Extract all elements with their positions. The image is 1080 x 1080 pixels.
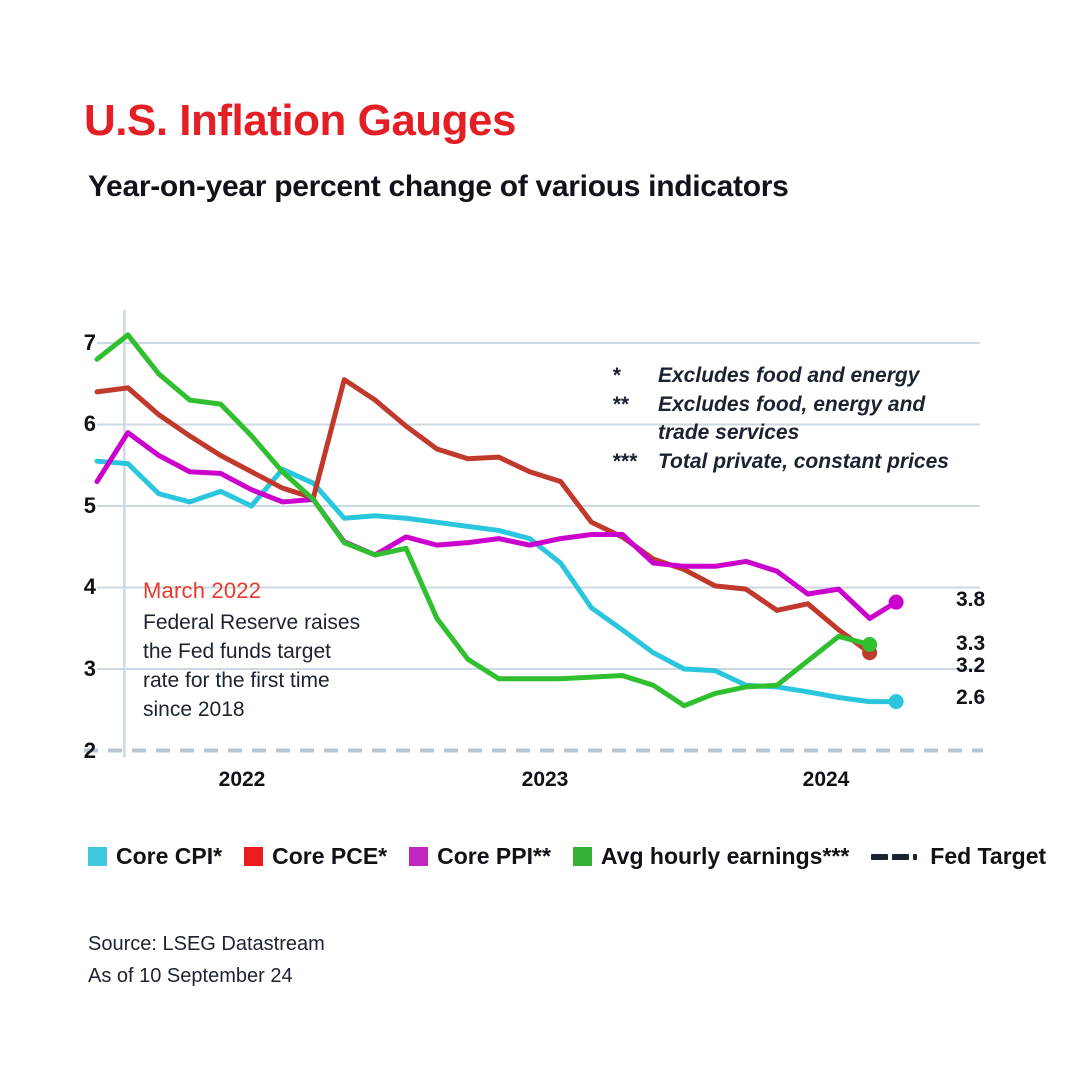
- footnote-2-marker: **: [612, 391, 658, 420]
- end-label-core-ppi: 3.8: [956, 588, 985, 612]
- footnotes: * Excludes food and energy ** Excludes f…: [612, 362, 949, 476]
- y-tick-6: 6: [60, 411, 96, 437]
- source-line-2: As of 10 September 24: [88, 960, 325, 992]
- end-label-core-pce: 3.2: [956, 654, 985, 678]
- footnote-3-marker: ***: [612, 448, 658, 477]
- footnote-1-marker: *: [612, 362, 658, 391]
- y-tick-7: 7: [60, 330, 96, 356]
- source-block: Source: LSEG Datastream As of 10 Septemb…: [88, 928, 325, 992]
- y-tick-5: 5: [60, 493, 96, 519]
- footnote-2-continuation-row: trade services: [612, 419, 949, 448]
- legend-label-core-pce: Core PCE*: [272, 843, 387, 870]
- x-tick-2024: 2024: [766, 768, 886, 792]
- legend-swatch-avg-hourly-earnings: [573, 847, 592, 866]
- legend-item-avg-hourly-earnings[interactable]: Avg hourly earnings***: [573, 843, 849, 870]
- x-tick-2022: 2022: [182, 768, 302, 792]
- source-line-1: Source: LSEG Datastream: [88, 928, 325, 960]
- x-tick-2023: 2023: [485, 768, 605, 792]
- annotation-body-line-1: Federal Reserve raises: [143, 608, 391, 637]
- footnote-1: * Excludes food and energy: [612, 362, 949, 391]
- legend-item-fed-target[interactable]: Fed Target: [871, 843, 1046, 870]
- annotation-body-line-2: the Fed funds target: [143, 637, 391, 666]
- footnote-2: ** Excludes food, energy and: [612, 391, 949, 420]
- legend-swatch-core-pce: [244, 847, 263, 866]
- legend-swatch-core-cpi: [88, 847, 107, 866]
- legend-item-core-ppi[interactable]: Core PPI**: [409, 843, 551, 870]
- footnote-2-text: Excludes food, energy and: [658, 391, 925, 420]
- legend-label-core-ppi: Core PPI**: [437, 843, 551, 870]
- chart-plot-area: [0, 0, 1080, 1080]
- legend-item-core-pce[interactable]: Core PCE*: [244, 843, 387, 870]
- dashed-line-icon: [871, 854, 921, 860]
- end-label-avg-hourly-earnings: 3.3: [956, 632, 985, 656]
- footnote-2-continuation: trade services: [658, 419, 949, 448]
- chart-legend: Core CPI* Core PCE* Core PPI** Avg hourl…: [88, 843, 1018, 870]
- end-label-core-cpi: 2.6: [956, 686, 985, 710]
- annotation-body-line-3: rate for the first time: [143, 666, 391, 695]
- annotation-heading: March 2022: [143, 578, 391, 604]
- footnote-3: *** Total private, constant prices: [612, 448, 949, 477]
- footnote-3-text: Total private, constant prices: [658, 448, 949, 477]
- y-tick-4: 4: [60, 574, 96, 600]
- legend-label-fed-target: Fed Target: [930, 843, 1046, 870]
- annotation-body-line-4: since 2018: [143, 695, 391, 724]
- y-tick-2: 2: [60, 738, 96, 764]
- legend-swatch-core-ppi: [409, 847, 428, 866]
- y-tick-3: 3: [60, 656, 96, 682]
- legend-item-core-cpi[interactable]: Core CPI*: [88, 843, 222, 870]
- legend-label-core-cpi: Core CPI*: [116, 843, 222, 870]
- footnote-1-text: Excludes food and energy: [658, 362, 919, 391]
- annotation-body: Federal Reserve raises the Fed funds tar…: [143, 608, 391, 724]
- legend-label-avg-hourly-earnings: Avg hourly earnings***: [601, 843, 849, 870]
- chart-annotation: March 2022 Federal Reserve raises the Fe…: [143, 578, 391, 724]
